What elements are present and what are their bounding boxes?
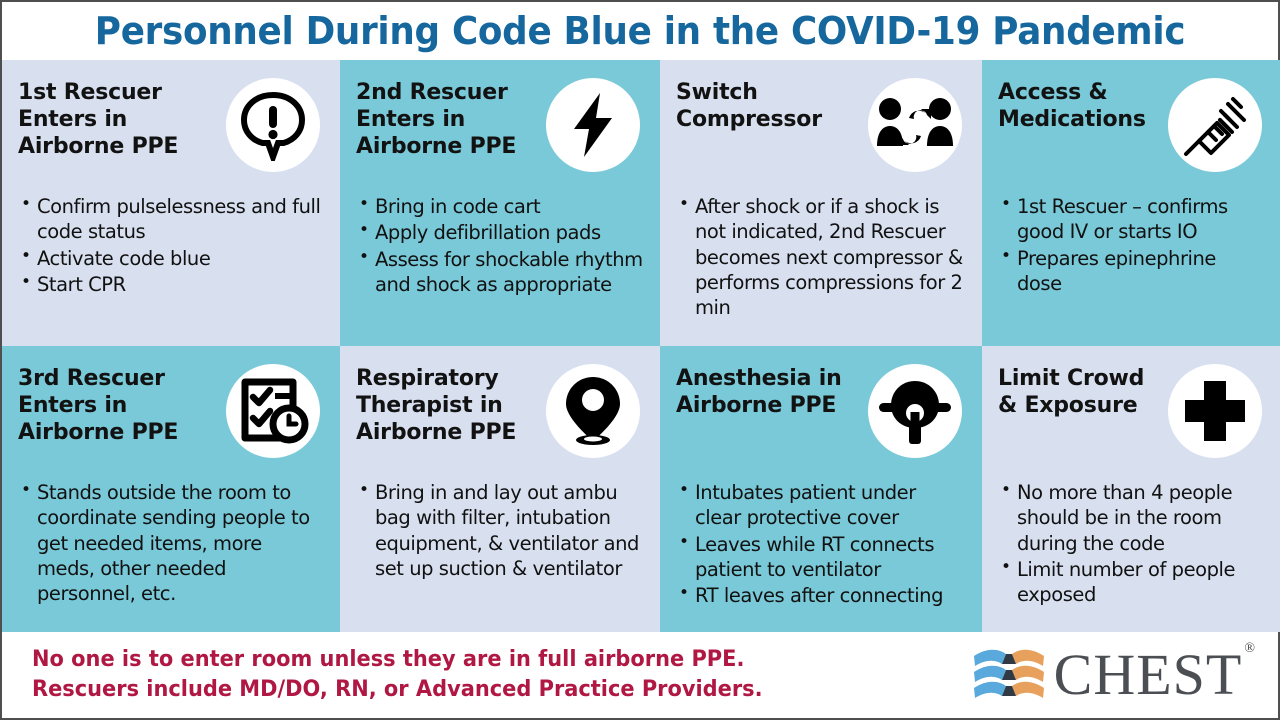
list-item: Intubates patient under clear protective… — [678, 480, 966, 531]
panel-title: 2nd Rescuer Enters in Airborne PPE — [356, 78, 540, 160]
panel-header: 2nd Rescuer Enters in Airborne PPE — [356, 78, 644, 182]
panel-access-medications: Access & Medications — [982, 60, 1280, 346]
panel-title: 1st Rescuer Enters in Airborne PPE — [18, 78, 220, 160]
list-item: No more than 4 people should be in the r… — [1000, 480, 1266, 556]
list-item: Activate code blue — [20, 246, 324, 271]
footer-note: No one is to enter room unless they are … — [32, 645, 818, 705]
panel-header: Limit Crowd & Exposure — [998, 364, 1266, 468]
footer-line-2: Rescuers include MD/DO, RN, or Advanced … — [32, 675, 763, 705]
infographic-poster: Personnel During Code Blue in the COVID-… — [0, 0, 1280, 720]
panel-title: Limit Crowd & Exposure — [998, 364, 1162, 420]
two-people-swap-icon — [868, 78, 962, 172]
panel-switch-compressor: Switch Compressor After shock or if a sh… — [660, 60, 982, 346]
list-item: After shock or if a shock is not indicat… — [678, 194, 966, 321]
panel-title: Access & Medications — [998, 78, 1162, 134]
list-item: Stands outside the room to coordinate se… — [20, 480, 324, 607]
panel-title: Respiratory Therapist in Airborne PPE — [356, 364, 540, 446]
list-item: Prepares epinephrine dose — [1000, 246, 1266, 297]
page-title: Personnel During Code Blue in the COVID-… — [95, 9, 1185, 53]
lightning-bolt-icon — [546, 78, 640, 172]
title-bar: Personnel During Code Blue in the COVID-… — [2, 2, 1278, 60]
list-item: RT leaves after connecting — [678, 583, 966, 608]
chest-ribs-mark — [972, 642, 1046, 708]
panel-header: 3rd Rescuer Enters in Airborne PPE — [18, 364, 324, 468]
panel-limit-crowd: Limit Crowd & Exposure No more than 4 pe… — [982, 346, 1280, 632]
footer-bar: No one is to enter room unless they are … — [2, 632, 1278, 718]
list-item: Apply defibrillation pads — [358, 220, 644, 245]
panel-title: Switch Compressor — [676, 78, 862, 134]
panel-bullet-list: 1st Rescuer – confirms good IV or starts… — [998, 194, 1266, 296]
registered-trademark-icon: ® — [1244, 641, 1256, 656]
list-item: Start CPR — [20, 272, 324, 297]
anesthesia-mask-icon — [868, 364, 962, 458]
panel-header: Switch Compressor — [676, 78, 966, 182]
syringe-icon — [1168, 78, 1262, 172]
list-item: Leaves while RT connects patient to vent… — [678, 532, 966, 583]
list-item: Confirm pulselessness and full code stat… — [20, 194, 324, 245]
panel-anesthesia: Anesthesia in Airborne PPE Intubates pat… — [660, 346, 982, 632]
panel-respiratory-therapist: Respiratory Therapist in Airborne PPE Br… — [340, 346, 660, 632]
clipboard-checklist-clock-icon — [226, 364, 320, 458]
list-item: Assess for shockable rhythm and shock as… — [358, 247, 644, 298]
panel-header: 1st Rescuer Enters in Airborne PPE — [18, 78, 324, 182]
list-item: Bring in code cart — [358, 194, 644, 219]
panel-bullet-list: Stands outside the room to coordinate se… — [18, 480, 324, 607]
panel-header: Anesthesia in Airborne PPE — [676, 364, 966, 468]
panel-2nd-rescuer: 2nd Rescuer Enters in Airborne PPE Bring… — [340, 60, 660, 346]
panel-bullet-list: No more than 4 people should be in the r… — [998, 480, 1266, 608]
panel-bullet-list: Intubates patient under clear protective… — [676, 480, 966, 609]
panel-title: Anesthesia in Airborne PPE — [676, 364, 862, 420]
chest-wordmark-text: CHEST — [1054, 642, 1243, 707]
panel-header: Access & Medications — [998, 78, 1266, 182]
panel-header: Respiratory Therapist in Airborne PPE — [356, 364, 644, 468]
list-item: 1st Rescuer – confirms good IV or starts… — [1000, 194, 1266, 245]
panel-bullet-list: Confirm pulselessness and full code stat… — [18, 194, 324, 297]
footer-line-1: No one is to enter room unless they are … — [32, 645, 763, 675]
panel-grid: 1st Rescuer Enters in Airborne PPE Confi… — [2, 60, 1278, 632]
panel-bullet-list: Bring in and lay out ambu bag with filte… — [356, 480, 644, 581]
panel-title: 3rd Rescuer Enters in Airborne PPE — [18, 364, 220, 446]
exclamation-speech-bubble-icon — [226, 78, 320, 172]
panel-1st-rescuer: 1st Rescuer Enters in Airborne PPE Confi… — [2, 60, 340, 346]
chest-logo: CHEST® — [972, 642, 1260, 708]
list-item: Limit number of people exposed — [1000, 557, 1266, 608]
chest-wordmark: CHEST® — [1054, 646, 1254, 704]
panel-3rd-rescuer: 3rd Rescuer Enters in Airborne PPE Stand… — [2, 346, 340, 632]
panel-bullet-list: Bring in code cart Apply defibrillation … — [356, 194, 644, 297]
medical-cross-icon — [1168, 364, 1262, 458]
panel-bullet-list: After shock or if a shock is not indicat… — [676, 194, 966, 321]
location-pin-icon — [546, 364, 640, 458]
list-item: Bring in and lay out ambu bag with filte… — [358, 480, 644, 581]
